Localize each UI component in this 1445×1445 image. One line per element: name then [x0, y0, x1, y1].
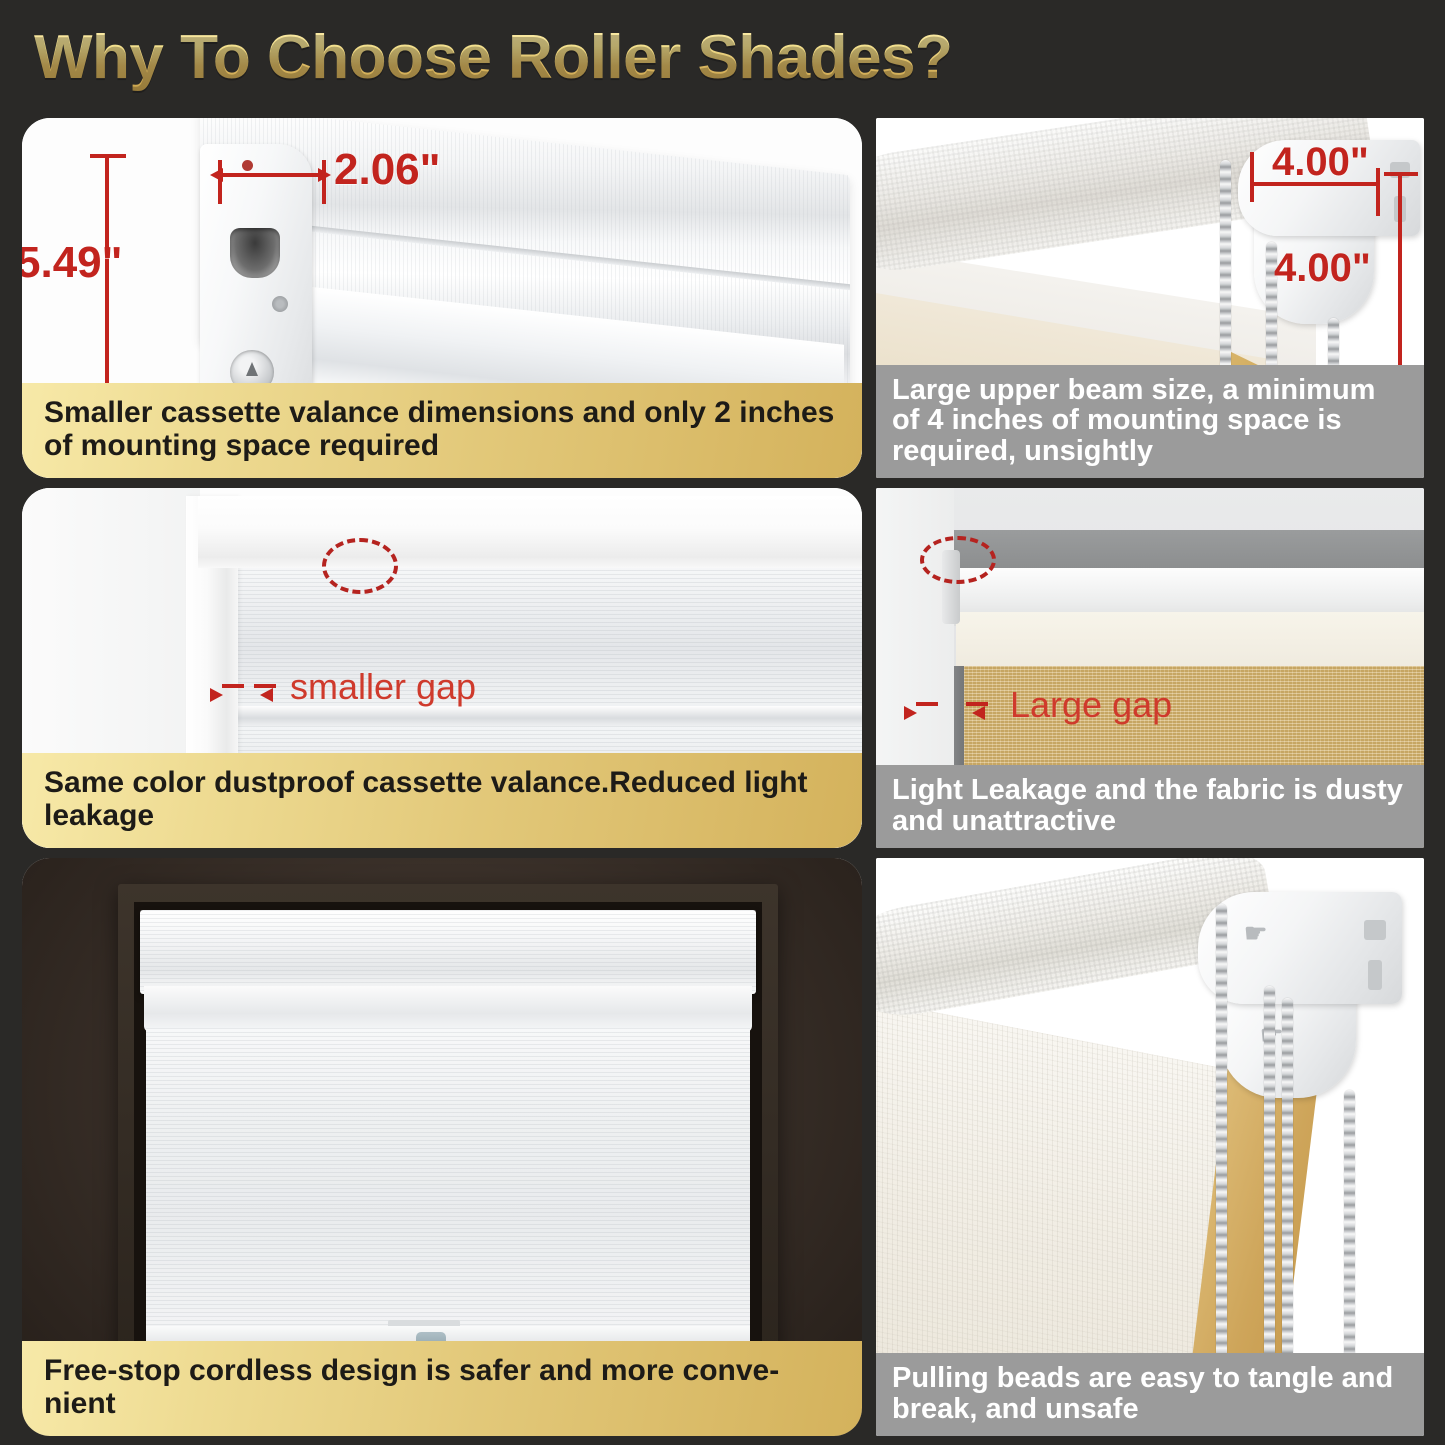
- page-title: Why To Choose Roller Shades?: [34, 22, 952, 93]
- panel-con-light-leakage[interactable]: Large gap Light Leakage and the fabric i…: [876, 488, 1424, 848]
- dimension-label-width: 4.00": [1272, 140, 1369, 185]
- panel-pro-cassette-dimensions[interactable]: 2.06" 5.49" Smaller cassette valance dim…: [22, 118, 862, 478]
- panel-con-pulling-beads[interactable]: ☛ ☛ Pulling beads are easy to tangle and…: [876, 858, 1424, 1436]
- panel-pro-dustproof-valance[interactable]: smaller gap Same color dustproof cassett…: [22, 488, 862, 848]
- panel-caption-con-large-beam: Large upper beam size, a minimum of 4 in…: [876, 365, 1424, 478]
- dimension-label-height: 5.49": [22, 238, 123, 288]
- panel-caption-pro-dustproof: Same color dustproof cassette valance.Re…: [22, 753, 862, 848]
- gap-label-smaller: smaller gap: [290, 666, 476, 708]
- gap-arrow-left-icon: [210, 688, 223, 702]
- highlight-ellipse-icon: [322, 538, 398, 594]
- valance-endcap-icon: [200, 144, 312, 412]
- bead-chain-icon[interactable]: [1216, 904, 1227, 1404]
- dimension-label-height: 4.00": [1274, 246, 1371, 291]
- bead-chain-icon[interactable]: [1282, 998, 1293, 1404]
- gap-arrow-left-icon: [904, 706, 917, 720]
- roller-bracket-upper-icon: ☛: [1198, 892, 1402, 1004]
- panel-caption-con-light-leakage: Light Leakage and the fabric is dusty an…: [876, 765, 1424, 848]
- panel-con-large-beam[interactable]: 4.00" 4.00" Large upper beam size, a min…: [876, 118, 1424, 478]
- product-photo-bead-chain-roller: ☛ ☛: [876, 858, 1424, 1436]
- gap-arrow-right-icon: [972, 706, 985, 720]
- highlight-ellipse-icon: [920, 536, 996, 584]
- gap-label-large: Large gap: [1010, 684, 1172, 726]
- panel-caption-con-pulling-beads: Pulling beads are easy to tangle and bre…: [876, 1353, 1424, 1436]
- panel-caption-pro-cassette: Smaller cassette valance dimensions and …: [22, 383, 862, 478]
- header-bar: Why To Choose Roller Shades?: [0, 0, 1445, 108]
- panel-pro-cordless-design[interactable]: Free-stop cordless design is safer and m…: [22, 858, 862, 1436]
- panel-caption-pro-cordless: Free-stop cordless design is safer and m…: [22, 1341, 862, 1436]
- bead-chain-icon[interactable]: [1264, 986, 1275, 1404]
- comparison-grid: 2.06" 5.49" Smaller cassette valance dim…: [0, 108, 1445, 1445]
- dimension-label-width: 2.06": [334, 145, 441, 195]
- gap-arrow-right-icon: [260, 688, 273, 702]
